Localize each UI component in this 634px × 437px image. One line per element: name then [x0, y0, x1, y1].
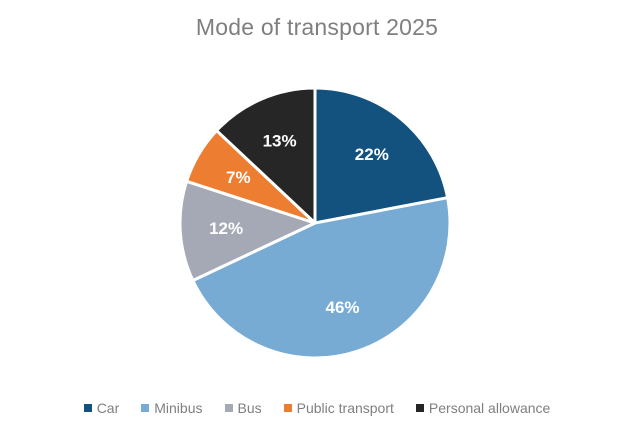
legend-item-label: Public transport: [297, 401, 394, 415]
legend-item[interactable]: Car: [84, 401, 120, 415]
legend-item-label: Personal allowance: [429, 401, 550, 415]
legend-item-label: Minibus: [154, 401, 202, 415]
legend-swatch-icon: [84, 404, 92, 412]
pie-svg: 22%46%12%7%13%: [180, 88, 450, 358]
pie-slice-label: 46%: [325, 298, 359, 317]
legend-swatch-icon: [416, 404, 424, 412]
legend-item[interactable]: Minibus: [141, 401, 202, 415]
legend-swatch-icon: [284, 404, 292, 412]
pie-slice-label: 22%: [355, 145, 389, 164]
legend-item[interactable]: Public transport: [284, 401, 394, 415]
chart-legend: CarMinibusBusPublic transportPersonal al…: [0, 401, 634, 415]
legend-item[interactable]: Personal allowance: [416, 401, 550, 415]
legend-swatch-icon: [141, 404, 149, 412]
pie-plot-area: 22%46%12%7%13%: [180, 88, 450, 358]
chart-title: Mode of transport 2025: [0, 14, 634, 41]
legend-swatch-icon: [225, 404, 233, 412]
legend-item-label: Car: [97, 401, 120, 415]
pie-slice-label: 13%: [263, 132, 297, 151]
legend-item-label: Bus: [238, 401, 262, 415]
pie-chart-figure: Mode of transport 2025 22%46%12%7%13% Ca…: [0, 0, 634, 437]
pie-slice-label: 7%: [226, 168, 251, 187]
pie-slice-label: 12%: [209, 219, 243, 238]
legend-item[interactable]: Bus: [225, 401, 262, 415]
